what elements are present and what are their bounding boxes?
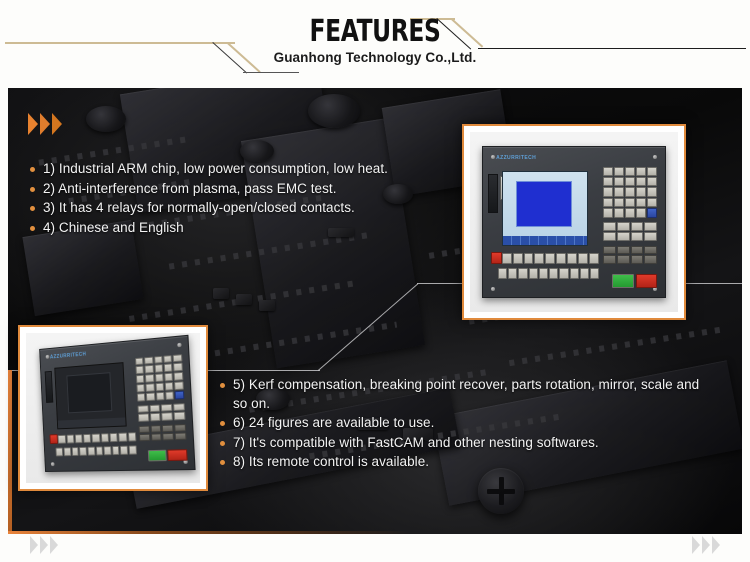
chevron-right-icon — [40, 113, 50, 135]
cnc-display-statusbar — [503, 236, 588, 245]
chevron-right-icon — [702, 536, 710, 554]
list-item-label: 1) Industrial ARM chip, low power consum… — [43, 160, 388, 179]
cnc-display-statusbar — [58, 418, 125, 428]
function-keypad[interactable] — [138, 403, 186, 422]
softkey-row-1[interactable] — [502, 253, 600, 263]
list-item: 3) It has 4 relays for normally-open/clo… — [30, 199, 430, 218]
bullet-dot-icon — [30, 187, 35, 192]
product-photo-angled: AZZURRITECH — [26, 333, 200, 483]
bullet-dot-icon — [220, 383, 225, 388]
chevron-right-icon — [30, 536, 38, 554]
triple-chevron-right-icon-bottom-left — [30, 536, 58, 554]
list-item: 6) 24 figures are available to use. — [220, 414, 700, 433]
list-item: 1) Industrial ARM chip, low power consum… — [30, 160, 430, 179]
softkey-row-2[interactable] — [498, 268, 599, 278]
feature-list-bottom: 5) Kerf compensation, breaking point rec… — [220, 376, 700, 473]
stop-button[interactable] — [168, 449, 188, 461]
list-item-label: 4) Chinese and English — [43, 219, 184, 238]
bullet-dot-icon — [30, 226, 35, 231]
list-item-label: 5) Kerf compensation, breaking point rec… — [233, 376, 700, 413]
screw-head-icon — [478, 468, 524, 514]
cnc-controller-angled: AZZURRITECH — [40, 335, 196, 472]
list-item: 7) It's compatible with FastCAM and othe… — [220, 434, 700, 453]
card-slot — [45, 371, 54, 403]
company-name: Guanhong Technology Co.,Ltd. — [0, 50, 750, 65]
cnc-display-canvas — [516, 181, 572, 227]
list-item-label: 2) Anti-interference from plasma, pass E… — [43, 180, 337, 199]
page-header: FEATURES Guanhong Technology Co.,Ltd. — [0, 0, 750, 88]
chevron-right-icon — [40, 536, 48, 554]
bullet-dot-icon — [30, 167, 35, 172]
header-rule-left-dark — [243, 72, 299, 73]
chevron-right-icon — [692, 536, 700, 554]
list-item-label: 3) It has 4 relays for normally-open/clo… — [43, 199, 355, 218]
accent-bar-bottom — [8, 531, 742, 534]
product-photo-frame-front: AZZURRITECH — [462, 124, 686, 320]
list-item: 5) Kerf compensation, breaking point rec… — [220, 376, 700, 413]
function-keypad[interactable] — [603, 222, 657, 241]
accent-bar-left — [8, 370, 12, 534]
list-item: 2) Anti-interference from plasma, pass E… — [30, 180, 430, 199]
softkey-row-2[interactable] — [56, 445, 137, 456]
list-item-label: 8) Its remote control is available. — [233, 453, 429, 472]
list-item-label: 7) It's compatible with FastCAM and othe… — [233, 434, 599, 453]
product-photo-frame-angled: AZZURRITECH — [18, 325, 208, 491]
features-page: FEATURES Guanhong Technology Co.,Ltd. — [0, 0, 750, 562]
cnc-controller-front: AZZURRITECH — [482, 146, 665, 297]
cnc-display-canvas — [67, 372, 113, 413]
product-brand-label: AZZURRITECH — [496, 155, 536, 161]
list-item: 8) Its remote control is available. — [220, 453, 700, 472]
bullet-dot-icon — [220, 421, 225, 426]
feature-list-top: 1) Industrial ARM chip, low power consum… — [30, 160, 430, 238]
chevron-right-icon — [50, 536, 58, 554]
bullet-dot-icon — [220, 460, 225, 465]
bullet-dot-icon — [30, 206, 35, 211]
chevron-right-icon — [28, 113, 38, 135]
list-item: 4) Chinese and English — [30, 219, 430, 238]
card-slot — [488, 174, 498, 213]
numeric-keypad[interactable] — [603, 167, 657, 218]
product-photo-front: AZZURRITECH — [470, 132, 678, 312]
page-title: FEATURES — [83, 14, 668, 49]
chevron-right-icon — [712, 536, 720, 554]
stop-button[interactable] — [636, 274, 658, 287]
softkey-row-1[interactable] — [58, 432, 136, 443]
list-item-label: 6) 24 figures are available to use. — [233, 414, 434, 433]
start-button[interactable] — [612, 274, 634, 287]
emergency-stop-button[interactable] — [50, 434, 59, 444]
product-brand-label: AZZURRITECH — [50, 352, 87, 361]
triple-chevron-right-icon-bottom-right — [692, 536, 720, 554]
chevron-right-icon — [52, 113, 62, 135]
start-button[interactable] — [148, 450, 167, 462]
triple-chevron-right-icon — [28, 113, 62, 135]
emergency-stop-button[interactable] — [491, 252, 502, 264]
bullet-dot-icon — [220, 441, 225, 446]
arrow-keypad[interactable] — [603, 246, 657, 264]
numeric-keypad[interactable] — [135, 354, 184, 402]
arrow-keypad[interactable] — [139, 424, 187, 441]
cnc-display — [502, 171, 589, 246]
cnc-display — [55, 362, 127, 429]
